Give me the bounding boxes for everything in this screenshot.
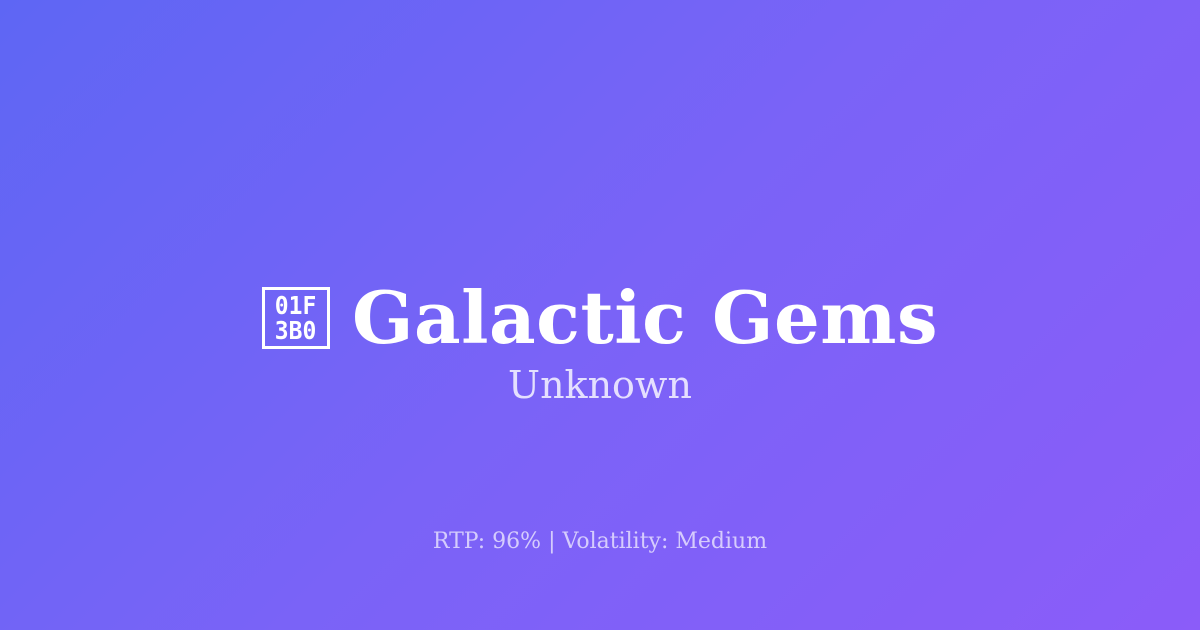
slot-machine-icon: 01F 3B0 [262, 287, 330, 349]
tofu-codepoint-line1: 01F [275, 293, 317, 318]
provider-subtitle: Unknown [0, 363, 1200, 409]
tofu-codepoint-line2: 3B0 [275, 318, 317, 343]
game-stats-footer: RTP: 96% | Volatility: Medium [0, 528, 1200, 557]
game-preview-card: 01F 3B0 Galactic Gems Unknown RTP: 96% |… [0, 0, 1200, 630]
page-title: Galactic Gems [352, 280, 938, 356]
